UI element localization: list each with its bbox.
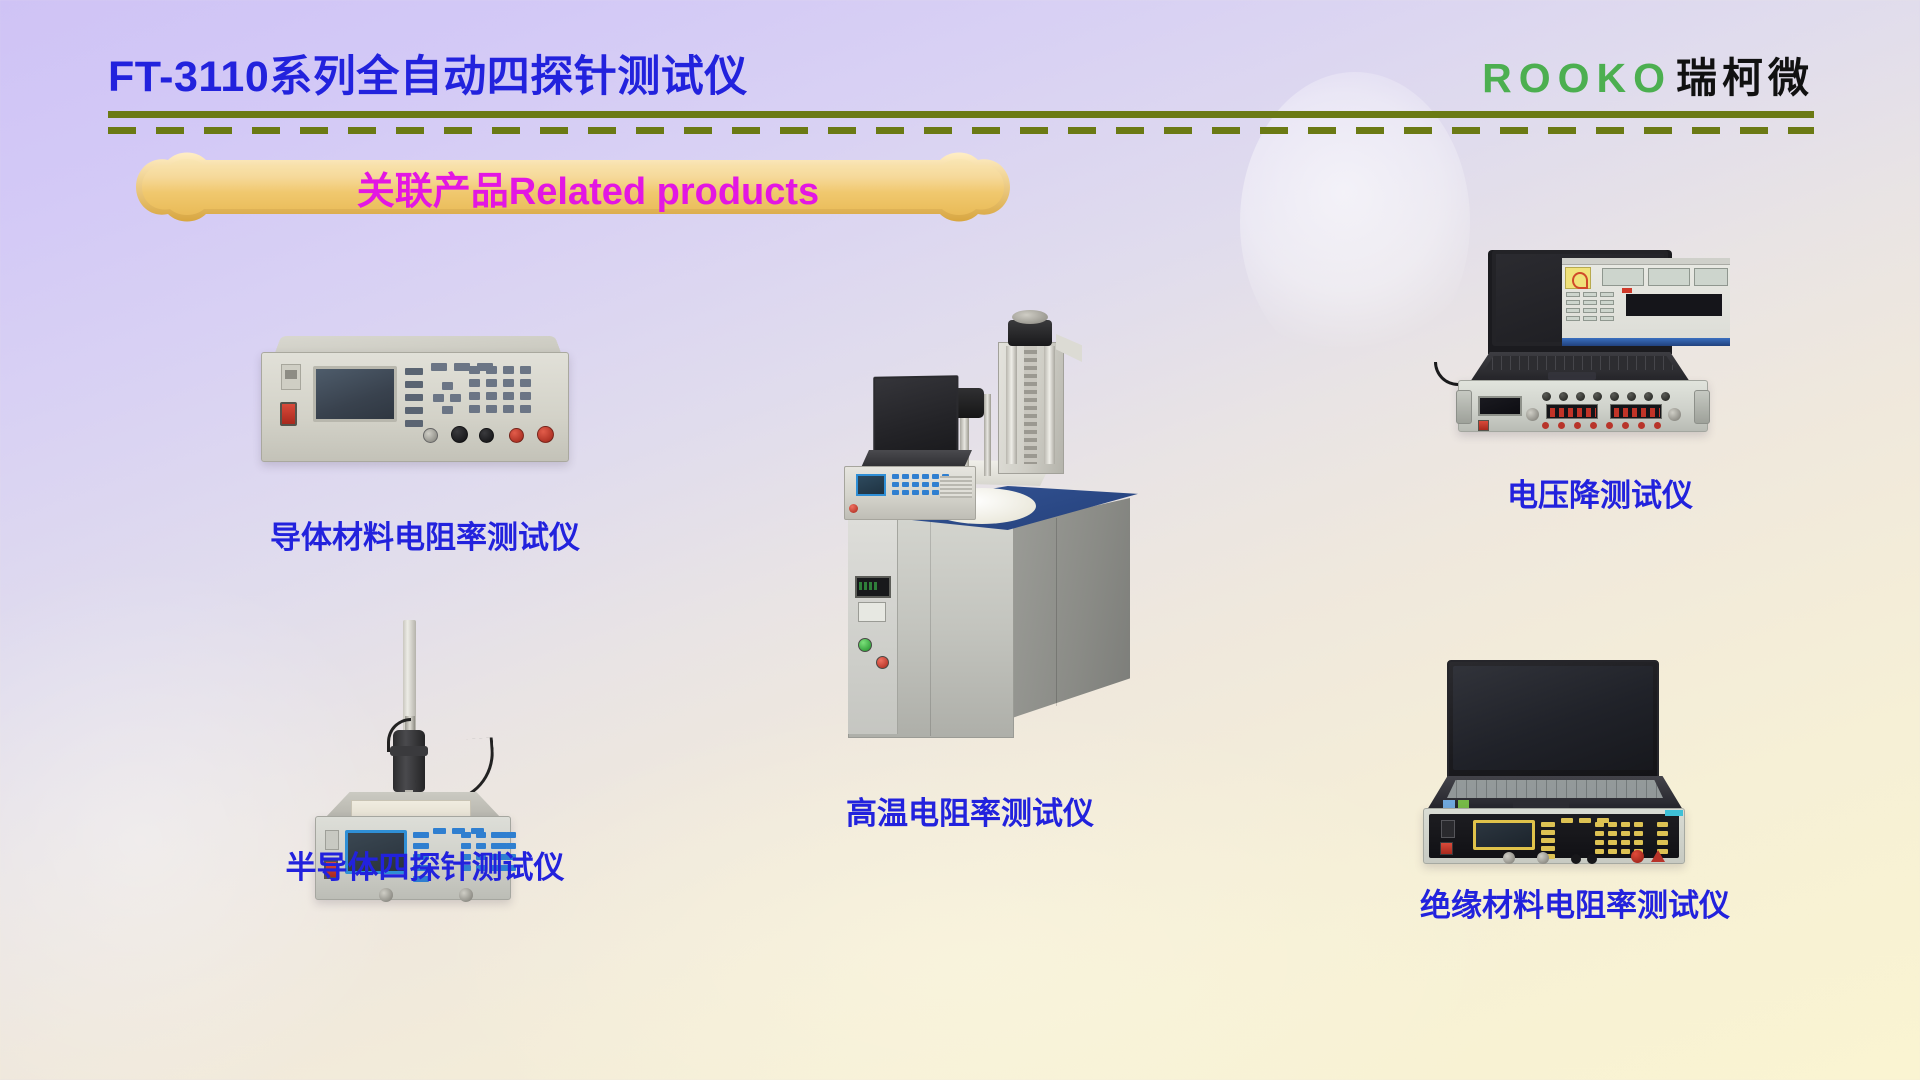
keypad-key[interactable] bbox=[1621, 840, 1630, 845]
product-label-conductor-resistivity: 导体材料电阻率测试仪 bbox=[215, 512, 635, 557]
power-indicator bbox=[849, 504, 858, 513]
arrow-left-key[interactable] bbox=[433, 394, 444, 402]
start-button-green[interactable] bbox=[858, 638, 872, 652]
software-button-grid bbox=[1566, 292, 1614, 321]
cabinet-side-seam bbox=[1056, 518, 1057, 706]
channel-knob[interactable] bbox=[1593, 392, 1602, 401]
terminal[interactable] bbox=[1654, 422, 1661, 429]
channel-knob[interactable] bbox=[1559, 392, 1568, 401]
product-card-conductor-resistivity[interactable]: 导体材料电阻率测试仪 bbox=[215, 330, 635, 580]
control-key[interactable] bbox=[495, 832, 507, 838]
keypad-key[interactable] bbox=[892, 482, 899, 487]
soft-key[interactable] bbox=[405, 381, 423, 388]
guide-rail-right bbox=[1044, 346, 1055, 464]
soft-key-column[interactable] bbox=[405, 368, 423, 427]
keypad-key[interactable] bbox=[892, 474, 899, 479]
soft-key[interactable] bbox=[1541, 838, 1555, 843]
keypad-key[interactable] bbox=[1634, 840, 1643, 845]
product-card-high-temperature-resistivity[interactable]: 高温电阻率测试仪 bbox=[760, 290, 1180, 850]
terminal-connector-right[interactable] bbox=[1668, 408, 1681, 421]
power-switch[interactable] bbox=[280, 402, 297, 426]
channel-knob-row[interactable] bbox=[1542, 392, 1670, 401]
keypad-key[interactable] bbox=[1595, 849, 1604, 854]
analog-gauge bbox=[858, 602, 886, 622]
brand-name-english: ROOKO bbox=[1482, 55, 1672, 102]
terminal[interactable] bbox=[1590, 422, 1597, 429]
arrow-right-key[interactable] bbox=[450, 394, 461, 402]
keypad-key[interactable] bbox=[469, 392, 480, 400]
keypad-key[interactable] bbox=[1621, 831, 1630, 836]
terminal-connector-left[interactable] bbox=[1526, 408, 1539, 421]
page-title: FT-3110系列全自动四探针测试仪 bbox=[108, 42, 748, 104]
keypad-key[interactable] bbox=[912, 490, 919, 495]
bnc-connector-left[interactable] bbox=[1503, 852, 1515, 864]
stop-button-red[interactable] bbox=[876, 656, 889, 669]
soft-key[interactable] bbox=[405, 394, 423, 401]
terminal[interactable] bbox=[1558, 422, 1565, 429]
laptop-sticker-blue bbox=[1443, 800, 1455, 808]
software-panel bbox=[1648, 268, 1690, 286]
binding-post-red[interactable] bbox=[537, 426, 554, 443]
keypad-key[interactable] bbox=[1595, 840, 1604, 845]
keypad-key[interactable] bbox=[932, 474, 939, 479]
function-key[interactable] bbox=[1579, 818, 1591, 823]
keypad-key[interactable] bbox=[520, 379, 531, 387]
controller-lcd-display bbox=[856, 474, 886, 496]
keypad-key[interactable] bbox=[902, 482, 909, 487]
product-label-high-temperature-resistivity: 高温电阻率测试仪 bbox=[660, 788, 1280, 833]
keypad-key[interactable] bbox=[503, 405, 514, 413]
product-card-insulation-resistivity[interactable]: 绝缘材料电阻率测试仪 bbox=[1340, 660, 1810, 920]
software-button bbox=[1583, 308, 1597, 313]
keypad-key[interactable] bbox=[1608, 822, 1617, 827]
control-key[interactable] bbox=[1657, 822, 1668, 827]
keypad-key[interactable] bbox=[486, 366, 497, 374]
terminal-row[interactable] bbox=[1542, 422, 1661, 429]
software-data-chart-area bbox=[1626, 294, 1722, 316]
keypad-key[interactable] bbox=[503, 366, 514, 374]
control-key[interactable] bbox=[1657, 840, 1668, 845]
channel-knob[interactable] bbox=[1644, 392, 1653, 401]
keypad-key[interactable] bbox=[922, 490, 929, 495]
keypad-key[interactable] bbox=[912, 474, 919, 479]
laptop-screen bbox=[1453, 666, 1653, 770]
usb-slot bbox=[285, 370, 297, 379]
soft-key[interactable] bbox=[1541, 830, 1555, 835]
divider-solid-line bbox=[108, 111, 1814, 118]
product-label-insulation-resistivity: 绝缘材料电阻率测试仪 bbox=[1340, 880, 1810, 925]
keypad-key[interactable] bbox=[461, 832, 471, 838]
keypad-key[interactable] bbox=[892, 490, 899, 495]
keypad-key[interactable] bbox=[503, 379, 514, 387]
keypad-key[interactable] bbox=[486, 379, 497, 387]
keypad-key[interactable] bbox=[476, 832, 486, 838]
lcd-display bbox=[313, 366, 397, 422]
soft-key[interactable] bbox=[405, 368, 423, 375]
software-button bbox=[1600, 308, 1614, 313]
keypad-key[interactable] bbox=[520, 405, 531, 413]
cabinet-control-panel bbox=[848, 512, 898, 734]
terminal[interactable] bbox=[1638, 422, 1645, 429]
product-photo-voltage-drop-tester bbox=[1430, 250, 1750, 420]
keypad-key[interactable] bbox=[1608, 840, 1617, 845]
arrow-down-key[interactable] bbox=[442, 406, 453, 414]
keypad-key[interactable] bbox=[922, 474, 929, 479]
terminal[interactable] bbox=[1542, 422, 1549, 429]
soft-key[interactable] bbox=[413, 832, 429, 838]
product-photo-conductor-resistivity bbox=[255, 330, 575, 470]
keypad-key[interactable] bbox=[1595, 822, 1604, 827]
measurement-software-window bbox=[1562, 258, 1730, 346]
software-status-indicator bbox=[1622, 288, 1632, 293]
keypad-key[interactable] bbox=[932, 482, 939, 487]
keypad-key[interactable] bbox=[1634, 822, 1643, 827]
product-card-semiconductor-four-probe[interactable]: 半导体四探针测试仪 bbox=[215, 620, 635, 880]
section-banner: 关联产品Related products bbox=[108, 148, 1038, 226]
laptop-screen bbox=[1492, 250, 1668, 346]
keypad-key[interactable] bbox=[912, 482, 919, 487]
keypad-key[interactable] bbox=[1634, 831, 1643, 836]
power-switch[interactable] bbox=[1440, 842, 1453, 855]
divider-dashed-line bbox=[108, 127, 1814, 134]
cabinet-door-seam bbox=[930, 520, 931, 736]
terminal[interactable] bbox=[1574, 422, 1581, 429]
soft-key[interactable] bbox=[1541, 846, 1555, 851]
software-button bbox=[1583, 300, 1597, 305]
product-photo-semiconductor-four-probe bbox=[255, 620, 575, 835]
cabinet-side-panel bbox=[1012, 498, 1130, 718]
keypad-key[interactable] bbox=[506, 832, 516, 838]
usb-port bbox=[1441, 820, 1455, 838]
software-button bbox=[1600, 300, 1614, 305]
arrow-up-key[interactable] bbox=[442, 382, 453, 390]
keypad-key[interactable] bbox=[486, 392, 497, 400]
binding-post-black[interactable] bbox=[479, 428, 494, 443]
probe-connector-right[interactable] bbox=[459, 888, 473, 902]
keypad-key[interactable] bbox=[469, 366, 480, 374]
rack-handle-left bbox=[1456, 390, 1472, 424]
ground-terminal-icon bbox=[1651, 850, 1665, 862]
product-photo-insulation-resistivity bbox=[1395, 660, 1735, 870]
laptop-keys bbox=[1447, 780, 1663, 798]
function-key[interactable] bbox=[431, 363, 447, 371]
keypad-key[interactable] bbox=[520, 366, 531, 374]
led-display-left bbox=[1546, 404, 1598, 419]
windows-taskbar bbox=[1562, 338, 1730, 346]
page-header: FT-3110系列全自动四探针测试仪 ROOKO 瑞柯微 bbox=[0, 0, 1920, 160]
keypad-key[interactable] bbox=[1608, 849, 1617, 854]
software-panel bbox=[1602, 268, 1644, 286]
product-label-voltage-drop-tester: 电压降测试仪 bbox=[1390, 470, 1810, 515]
software-logo-icon bbox=[1565, 267, 1591, 289]
brand-logo: ROOKO 瑞柯微 bbox=[1482, 44, 1814, 104]
arrow-pad[interactable] bbox=[433, 382, 461, 416]
product-card-voltage-drop-tester[interactable]: 电压降测试仪 bbox=[1390, 250, 1810, 500]
power-switch[interactable] bbox=[1478, 420, 1489, 431]
keypad-key[interactable] bbox=[1595, 831, 1604, 836]
control-key[interactable] bbox=[1657, 831, 1668, 836]
banner-title-text: 关联产品Related products bbox=[108, 148, 1038, 226]
led-display-right bbox=[1610, 404, 1662, 419]
rack-handle-right bbox=[1694, 390, 1710, 424]
bnc-connector-right[interactable] bbox=[1537, 852, 1549, 864]
probe-post-right bbox=[984, 394, 991, 476]
keypad-key[interactable] bbox=[1608, 831, 1617, 836]
channel-knob[interactable] bbox=[1661, 392, 1670, 401]
laptop-sticker-green bbox=[1458, 800, 1469, 808]
keypad-key[interactable] bbox=[1621, 822, 1630, 827]
channel-knob[interactable] bbox=[1627, 392, 1636, 401]
led-segment-digits bbox=[1550, 408, 1596, 417]
panel-label-tab bbox=[1665, 810, 1683, 816]
product-photo-high-temperature-resistivity bbox=[760, 290, 1160, 740]
binding-post-red[interactable] bbox=[1631, 850, 1644, 863]
keypad-key[interactable] bbox=[1621, 849, 1630, 854]
soft-key[interactable] bbox=[405, 407, 423, 414]
function-key[interactable] bbox=[433, 828, 446, 834]
numeric-keypad[interactable] bbox=[469, 366, 531, 413]
motor-cap bbox=[1012, 310, 1048, 324]
laptop-keys bbox=[1484, 356, 1676, 370]
software-button bbox=[1600, 316, 1614, 321]
laptop-screen bbox=[873, 375, 958, 455]
software-button bbox=[1566, 300, 1580, 305]
keypad-key[interactable] bbox=[469, 405, 480, 413]
binding-post-group[interactable] bbox=[451, 426, 561, 446]
probe-connector-left[interactable] bbox=[379, 888, 393, 902]
soft-key[interactable] bbox=[405, 420, 423, 427]
channel-knob[interactable] bbox=[1610, 392, 1619, 401]
terminal[interactable] bbox=[1622, 422, 1629, 429]
software-button bbox=[1566, 308, 1580, 313]
ventilation-grille bbox=[940, 476, 972, 498]
binding-post-black[interactable] bbox=[1587, 854, 1597, 864]
software-button bbox=[1600, 292, 1614, 297]
guide-rail-left bbox=[1006, 346, 1017, 464]
lcd-display bbox=[1478, 396, 1522, 416]
keypad-key[interactable] bbox=[932, 490, 939, 495]
keypad-key[interactable] bbox=[902, 474, 909, 479]
product-label-semiconductor-four-probe: 半导体四探针测试仪 bbox=[215, 842, 635, 887]
brand-name-chinese: 瑞柯微 bbox=[1676, 44, 1814, 104]
terminal[interactable] bbox=[1606, 422, 1613, 429]
lcd-display bbox=[1473, 820, 1535, 850]
soft-key[interactable] bbox=[1541, 822, 1555, 827]
function-key[interactable] bbox=[454, 363, 470, 371]
binding-post-black[interactable] bbox=[451, 426, 468, 443]
temperature-digits bbox=[859, 582, 879, 590]
bnc-connector[interactable] bbox=[423, 428, 438, 443]
keypad-key[interactable] bbox=[520, 392, 531, 400]
binding-post-red[interactable] bbox=[509, 428, 524, 443]
software-button bbox=[1566, 292, 1580, 297]
software-button bbox=[1583, 292, 1597, 297]
keypad-key[interactable] bbox=[486, 405, 497, 413]
keypad-key[interactable] bbox=[922, 482, 929, 487]
function-key[interactable] bbox=[1561, 818, 1573, 823]
binding-post-black[interactable] bbox=[1571, 854, 1581, 864]
channel-knob[interactable] bbox=[1542, 392, 1551, 401]
led-segment-digits bbox=[1614, 408, 1660, 417]
software-button bbox=[1583, 316, 1597, 321]
keypad-key[interactable] bbox=[902, 490, 909, 495]
channel-knob[interactable] bbox=[1576, 392, 1585, 401]
software-button bbox=[1566, 316, 1580, 321]
lead-screw bbox=[1024, 346, 1037, 464]
keypad-key[interactable] bbox=[503, 392, 514, 400]
software-panel bbox=[1694, 268, 1728, 286]
keypad-key[interactable] bbox=[469, 379, 480, 387]
software-menu-bar bbox=[1562, 258, 1730, 265]
laptop-trackpad bbox=[1548, 372, 1596, 380]
